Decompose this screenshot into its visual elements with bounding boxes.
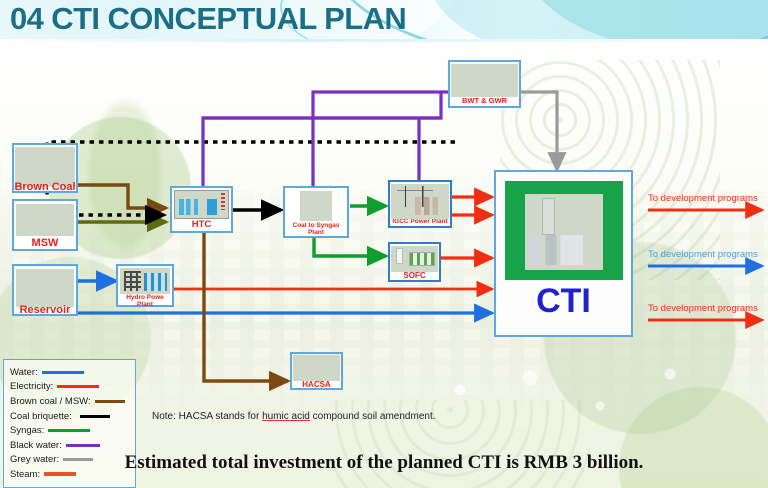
node-cti-label: CTI	[496, 284, 631, 320]
legend-label-coal-briquette: Coal briquette:	[10, 411, 72, 422]
edge-htc-blackwater	[203, 118, 441, 186]
legend-swatch-water	[42, 371, 84, 374]
edge-blackwater-trunk	[203, 92, 441, 118]
legend-label-electricity: Electricity:	[10, 381, 53, 392]
node-hydro-power-plant-label: Hydro Powe Plant	[118, 295, 172, 309]
slide-canvas: 04 CTI CONCEPTUAL PLAN	[0, 0, 768, 488]
node-htc-label: HTC	[172, 220, 231, 230]
node-hacsa[interactable]: HACSA	[290, 352, 343, 390]
node-igcc-power-plant-label: IGCC Power Plant	[390, 219, 450, 226]
edge-syngas-blackwater-to-bwt	[313, 92, 470, 186]
msw-thumbnail	[16, 204, 74, 236]
legend-swatch-electricity	[57, 385, 99, 388]
cti-image-panel	[505, 181, 623, 280]
htc-thumbnail	[174, 190, 229, 219]
syngas-plant-thumbnail	[300, 191, 332, 221]
note-prefix: Note: HACSA stands for	[152, 411, 262, 422]
node-hacsa-label: HACSA	[292, 381, 341, 389]
legend-swatch-coal-briquette	[80, 415, 110, 418]
cti-thumbnail	[525, 194, 603, 270]
reservoir-thumbnail	[16, 269, 74, 307]
footer-statement: Estimated total investment of the planne…	[0, 452, 768, 474]
legend-item-brown-coal-msw: Brown coal / MSW:	[10, 394, 135, 409]
legend-item-black-water: Black water:	[10, 438, 135, 453]
legend-swatch-syngas	[48, 429, 90, 432]
edge-browncoal-to-htc	[78, 185, 166, 208]
node-sofc-label: SOFC	[390, 272, 439, 280]
node-bwt-gwr-label: BWT & GWR	[450, 97, 519, 105]
output-label-3: To development programs	[648, 303, 758, 314]
node-hydro-power-plant[interactable]: Hydro Powe Plant	[116, 264, 174, 307]
legend-swatch-black-water	[66, 444, 100, 447]
node-coal-to-syngas-plant-label: Coal to Syngas Plant	[285, 223, 347, 237]
node-bwt-gwr[interactable]: BWT & GWR	[448, 60, 521, 108]
node-brown-coal-label: Brown Coal	[10, 181, 80, 193]
output-label-2: To development programs	[648, 249, 758, 260]
edge-syngas-to-sofc	[314, 238, 386, 256]
legend-label-syngas: Syngas:	[10, 425, 44, 436]
hacsa-thumbnail	[293, 355, 340, 381]
note-underlined: humic acid	[262, 411, 310, 422]
legend-label-water: Water:	[10, 367, 38, 378]
legend-label-black-water: Black water:	[10, 440, 62, 451]
node-igcc-power-plant[interactable]: IGCC Power Plant	[388, 180, 452, 228]
node-sofc[interactable]: SOFC	[388, 242, 441, 282]
legend-item-electricity: Electricity:	[10, 380, 135, 395]
edge-bwt-to-cti-greywater	[521, 92, 557, 170]
legend-swatch-brown-coal-msw	[95, 400, 125, 403]
legend-label-brown-coal-msw: Brown coal / MSW:	[10, 396, 91, 407]
node-coal-to-syngas-plant[interactable]: Coal to Syngas Plant	[283, 186, 349, 238]
node-cti[interactable]: CTI	[494, 170, 633, 337]
note-text: Note: HACSA stands for humic acid compou…	[152, 411, 436, 422]
legend-item-coal-briquette: Coal briquette:	[10, 409, 135, 424]
igcc-thumbnail	[391, 184, 449, 219]
node-msw-label: MSW	[14, 238, 76, 250]
node-htc[interactable]: HTC	[170, 186, 233, 233]
node-msw[interactable]: MSW	[12, 199, 78, 251]
legend-item-water: Water:	[10, 365, 135, 380]
note-suffix: compound soil amendment.	[310, 411, 436, 422]
hydro-power-plant-thumbnail	[120, 268, 170, 294]
node-reservoir-label: Reservoir	[8, 304, 82, 316]
bwt-gwr-thumbnail	[451, 64, 518, 97]
legend-item-syngas: Syngas:	[10, 423, 135, 438]
edge-htc-to-hacsa	[204, 233, 288, 381]
sofc-thumbnail	[391, 246, 438, 272]
output-label-1: To development programs	[648, 193, 758, 204]
